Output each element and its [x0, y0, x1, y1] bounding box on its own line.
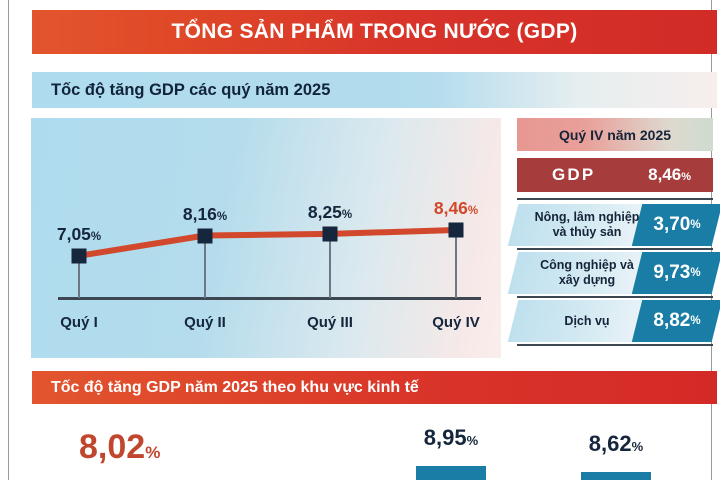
gdp-value-number: 8,46	[648, 165, 681, 184]
chart-x-axis	[58, 297, 481, 300]
chart-drop-line	[329, 234, 331, 298]
gdp-value: 8,46%	[648, 165, 691, 185]
chart-point-value: 7,05	[57, 224, 91, 244]
sector-label: Công nghiệp vàxây dựng	[531, 252, 643, 294]
sector-label: Dịch vụ	[531, 300, 643, 342]
gdp-summary-row: GDP 8,46%	[517, 158, 713, 192]
bottom-column-value: 8,95%	[424, 425, 478, 451]
sector-row: Dịch vụ8,82%	[513, 300, 717, 342]
chart-point-label: 8,25%	[308, 202, 352, 223]
gdp-percent-sign: %	[681, 171, 691, 183]
chart-point-percent: %	[468, 205, 478, 217]
quarter4-summary-panel: Quý IV năm 2025 GDP 8,46% Nông, lâm nghi…	[513, 118, 717, 358]
sector-value-number: 8,82	[653, 310, 690, 332]
sector-value: 3,70%	[641, 204, 713, 246]
quarterly-section-header: Tốc độ tăng GDP các quý năm 2025	[32, 72, 717, 108]
sector-row: Nông, lâm nghiệpvà thủy sản3,70%	[513, 204, 717, 246]
sector-label: Nông, lâm nghiệpvà thủy sản	[531, 204, 643, 246]
chart-point-label: 7,05%	[57, 224, 101, 245]
chart-point-value: 8,25	[308, 202, 342, 222]
chart-drop-line	[204, 236, 206, 298]
chart-point-value: 8,46	[434, 198, 468, 218]
sector-value: 9,73%	[641, 252, 713, 294]
chart-x-tick-label: Quý IV	[432, 314, 480, 331]
infographic-frame: TỔNG SẢN PHẨM TRONG NƯỚC (GDP) Tốc độ tă…	[8, 0, 712, 480]
bottom-primary-value: 8,02%	[79, 428, 160, 467]
sector-divider	[517, 344, 713, 346]
chart-point-percent: %	[217, 211, 227, 223]
chart-point-percent: %	[342, 209, 352, 221]
bottom-column-percent: %	[632, 439, 644, 454]
chart-data-point	[198, 228, 213, 243]
bottom-column-value: 8,62%	[589, 431, 643, 457]
divider-top	[517, 198, 713, 200]
sector-value-number: 9,73	[653, 262, 690, 284]
quarterly-gdp-line-chart: 7,05%Quý I8,16%Quý II8,25%Quý III8,46%Qu…	[31, 118, 501, 358]
sector-section-title: Tốc độ tăng GDP năm 2025 theo khu vực ki…	[32, 379, 419, 397]
sector-value-number: 3,70	[653, 214, 690, 236]
chart-data-point	[323, 226, 338, 241]
chart-point-value: 8,16	[183, 204, 217, 224]
sector-divider	[517, 296, 713, 298]
chart-x-tick-label: Quý I	[60, 314, 98, 331]
period-header: Quý IV năm 2025	[517, 118, 713, 151]
main-title-banner: TỔNG SẢN PHẨM TRONG NƯỚC (GDP)	[32, 10, 717, 54]
sector-percent-sign: %	[690, 315, 700, 327]
bottom-primary-number: 8,02	[79, 428, 145, 466]
sector-row: Công nghiệp vàxây dựng9,73%	[513, 252, 717, 294]
sector-percent-sign: %	[690, 219, 700, 231]
bottom-column-percent: %	[467, 433, 479, 448]
bottom-column-bar	[416, 466, 486, 480]
bottom-primary-percent: %	[145, 443, 160, 462]
chart-data-point	[449, 223, 464, 238]
sector-section-header: Tốc độ tăng GDP năm 2025 theo khu vực ki…	[32, 371, 717, 404]
bottom-column-number: 8,95	[424, 425, 467, 450]
period-label: Quý IV năm 2025	[559, 127, 671, 143]
chart-data-point	[72, 248, 87, 263]
bottom-column-number: 8,62	[589, 431, 632, 456]
gdp-label: GDP	[552, 165, 595, 185]
bottom-column-bar	[581, 472, 651, 480]
chart-point-label: 8,46%	[434, 198, 478, 219]
sector-divider	[517, 248, 713, 250]
sector-value: 8,82%	[641, 300, 713, 342]
quarterly-section-title: Tốc độ tăng GDP các quý năm 2025	[32, 81, 330, 100]
chart-line-path	[31, 118, 501, 358]
page-title: TỔNG SẢN PHẨM TRONG NƯỚC (GDP)	[172, 20, 578, 44]
chart-point-label: 8,16%	[183, 204, 227, 225]
chart-x-tick-label: Quý II	[184, 314, 226, 331]
chart-x-tick-label: Quý III	[307, 314, 353, 331]
chart-drop-line	[455, 230, 457, 298]
sector-percent-sign: %	[690, 267, 700, 279]
chart-point-percent: %	[91, 231, 101, 243]
